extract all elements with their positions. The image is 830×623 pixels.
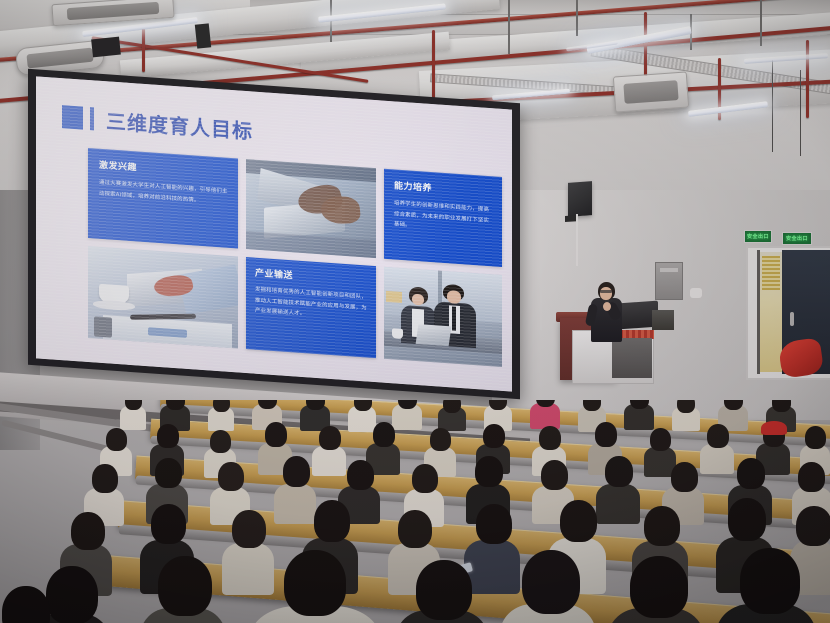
- ceiling-ac-unit: [613, 71, 689, 112]
- slide-photo-hands-laptop: [246, 159, 376, 258]
- door-handle-icon: [790, 312, 794, 326]
- ceiling-mount-bracket: [195, 23, 211, 48]
- exit-sign-left: 安全出口: [744, 230, 772, 243]
- door-notice-poster: [762, 256, 780, 290]
- card-heading: 激发兴趣: [99, 158, 228, 180]
- audience-member: [716, 548, 816, 623]
- slide-title-block: 三维度育人目标: [62, 102, 253, 144]
- card-body: 培养学生的创新思维和实践能力，提高综合素质，为未来的职业发展打下坚实基础。: [394, 198, 493, 237]
- exit-sign-label: 安全出口: [747, 233, 769, 240]
- ceiling-mount-bracket: [91, 37, 121, 58]
- slide-card-inspire: 激发兴趣 通过大赛激发大学生对人工智能的兴趣，引导他们主动探索AI领域，培养对前…: [88, 148, 238, 248]
- red-cap-icon: [761, 421, 787, 435]
- exit-sign-right: 安全出口: [782, 232, 812, 245]
- audience-member: [624, 400, 654, 426]
- slide-card-industry: 产业输送 发掘和培育优秀的人工智能创新项目和团队，推动人工智能技术赋能产业的应用…: [246, 257, 376, 358]
- audience-member: [140, 556, 226, 623]
- wall-speaker-icon: [568, 181, 592, 217]
- title-accent-bar-icon: [90, 107, 94, 130]
- presenter: [586, 282, 626, 344]
- led-display-wall: 三维度育人目标 激发兴趣 通过大赛激发大学生对人工智能的兴趣，引导他们主动探索A…: [28, 69, 520, 399]
- slide-title: 三维度育人目标: [106, 105, 253, 144]
- presenter-face: [600, 287, 612, 300]
- desk-dark-panel: [612, 338, 652, 378]
- audience-member: [484, 400, 512, 426]
- audience-member: [0, 586, 60, 623]
- audience-member: [438, 400, 466, 426]
- mic-stand: [540, 250, 542, 330]
- av-equipment-box: [652, 310, 674, 330]
- card-heading: 产业输送: [255, 266, 367, 287]
- card-heading: 能力培养: [394, 178, 493, 198]
- presenter-glasses-icon: [600, 290, 612, 293]
- audience-member: [208, 400, 234, 426]
- card-body: 通过大赛激发大学生对人工智能的兴趣，引导他们主动探索AI领域，培养对前沿科技的热…: [99, 178, 228, 208]
- wall-lamp: [690, 288, 702, 298]
- audience-member: [300, 400, 330, 426]
- electrical-panel: [655, 262, 683, 300]
- audience-member: [396, 560, 488, 623]
- slide-photo-business-pair: [384, 267, 502, 367]
- audience-member: [160, 400, 190, 426]
- audience-member: [120, 400, 146, 426]
- sprinkler-pipe-drop: [806, 40, 809, 118]
- presenter-hand: [603, 302, 611, 311]
- audience-member-white-tee: [250, 550, 380, 623]
- slide-photo-desk-coffee: [88, 246, 238, 348]
- slide-canvas: 三维度育人目标 激发兴趣 通过大赛激发大学生对人工智能的兴趣，引导他们主动探索A…: [36, 76, 512, 391]
- audience-member: [500, 550, 596, 623]
- presentation-screen: 三维度育人目标 激发兴趣 通过大赛激发大学生对人工智能的兴趣，引导他们主动探索A…: [36, 76, 512, 391]
- card-body: 发掘和培育优秀的人工智能创新项目和团队，推动人工智能技术赋能产业的应用与发展，为…: [255, 285, 367, 324]
- speaker-pole: [576, 214, 578, 266]
- door-mullion: [757, 250, 760, 374]
- sprinkler-pipe-drop: [142, 28, 145, 72]
- audience-member: [718, 400, 748, 426]
- lecture-hall-photo: 三维度育人目标 激发兴趣 通过大赛激发大学生对人工智能的兴趣，引导他们主动探索A…: [0, 0, 830, 623]
- audience-member: [608, 556, 704, 623]
- title-accent-square-icon: [62, 105, 83, 129]
- exit-sign-label: 安全出口: [786, 235, 808, 242]
- audience-member: [530, 400, 560, 426]
- audience-member: [672, 400, 700, 426]
- sprinkler-pipe-drop: [432, 30, 435, 106]
- audience-seating: [0, 400, 830, 623]
- slide-card-ability: 能力培养 培养学生的创新思维和实践能力，提高综合素质，为未来的职业发展打下坚实基…: [384, 169, 502, 267]
